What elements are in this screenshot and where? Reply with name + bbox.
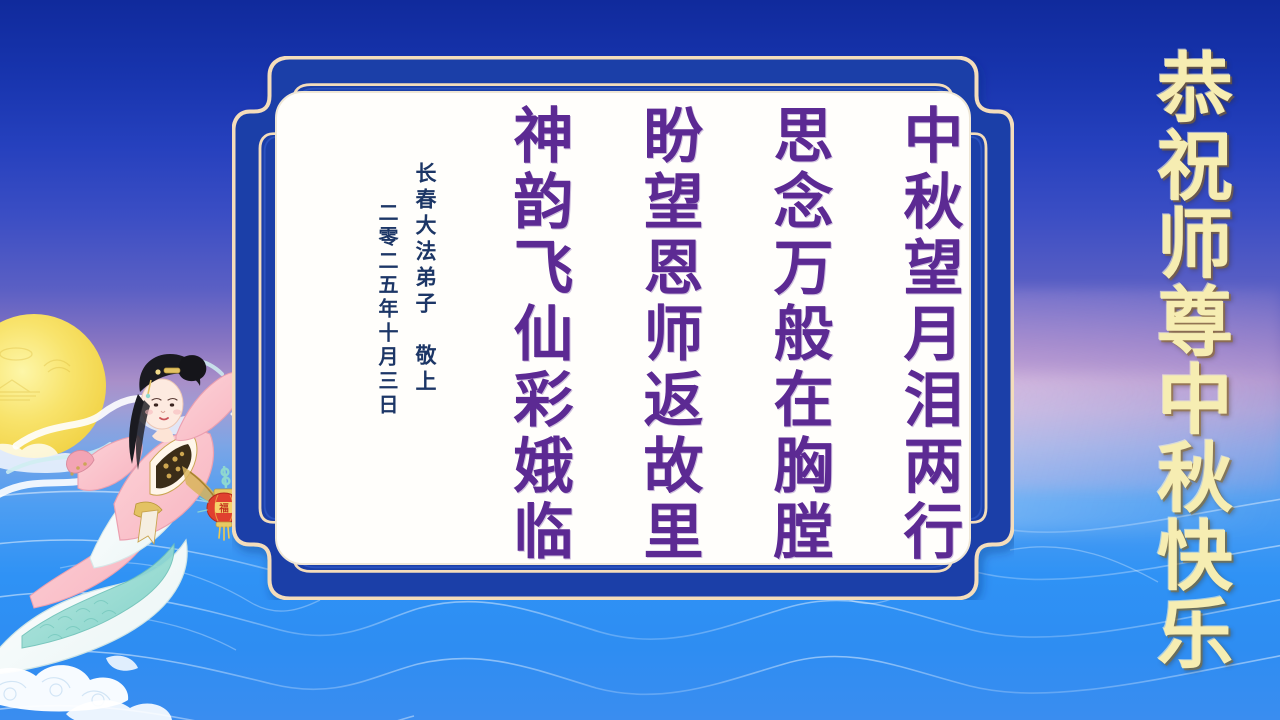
poem-column-2: 思念万般在胸膛 bbox=[754, 104, 832, 566]
poem-column-1: 中秋望月泪两行 bbox=[884, 104, 962, 566]
signature-date: 二零二五年十月三日 bbox=[370, 202, 402, 418]
signature-text: 长春大法弟子 敬上 bbox=[408, 162, 442, 396]
greeting-title: 恭祝师尊中秋快乐 bbox=[1148, 48, 1226, 672]
moon-icon bbox=[0, 314, 106, 458]
poem-plaque: 中秋望月泪两行 思念万般在胸膛 盼望恩师返故里 神韵飞仙彩娥临 长春大法弟子 敬… bbox=[232, 56, 1014, 600]
poem-column-3: 盼望恩师返故里 bbox=[624, 104, 702, 566]
lantern-chain bbox=[222, 466, 230, 488]
greeting-card: 福 bbox=[0, 0, 1280, 720]
poem-column-4: 神韵飞仙彩娥临 bbox=[494, 104, 572, 566]
signature-block: 长春大法弟子 敬上 二零二五年十月三日 bbox=[370, 162, 442, 418]
lantern-fu-char: 福 bbox=[218, 503, 229, 515]
